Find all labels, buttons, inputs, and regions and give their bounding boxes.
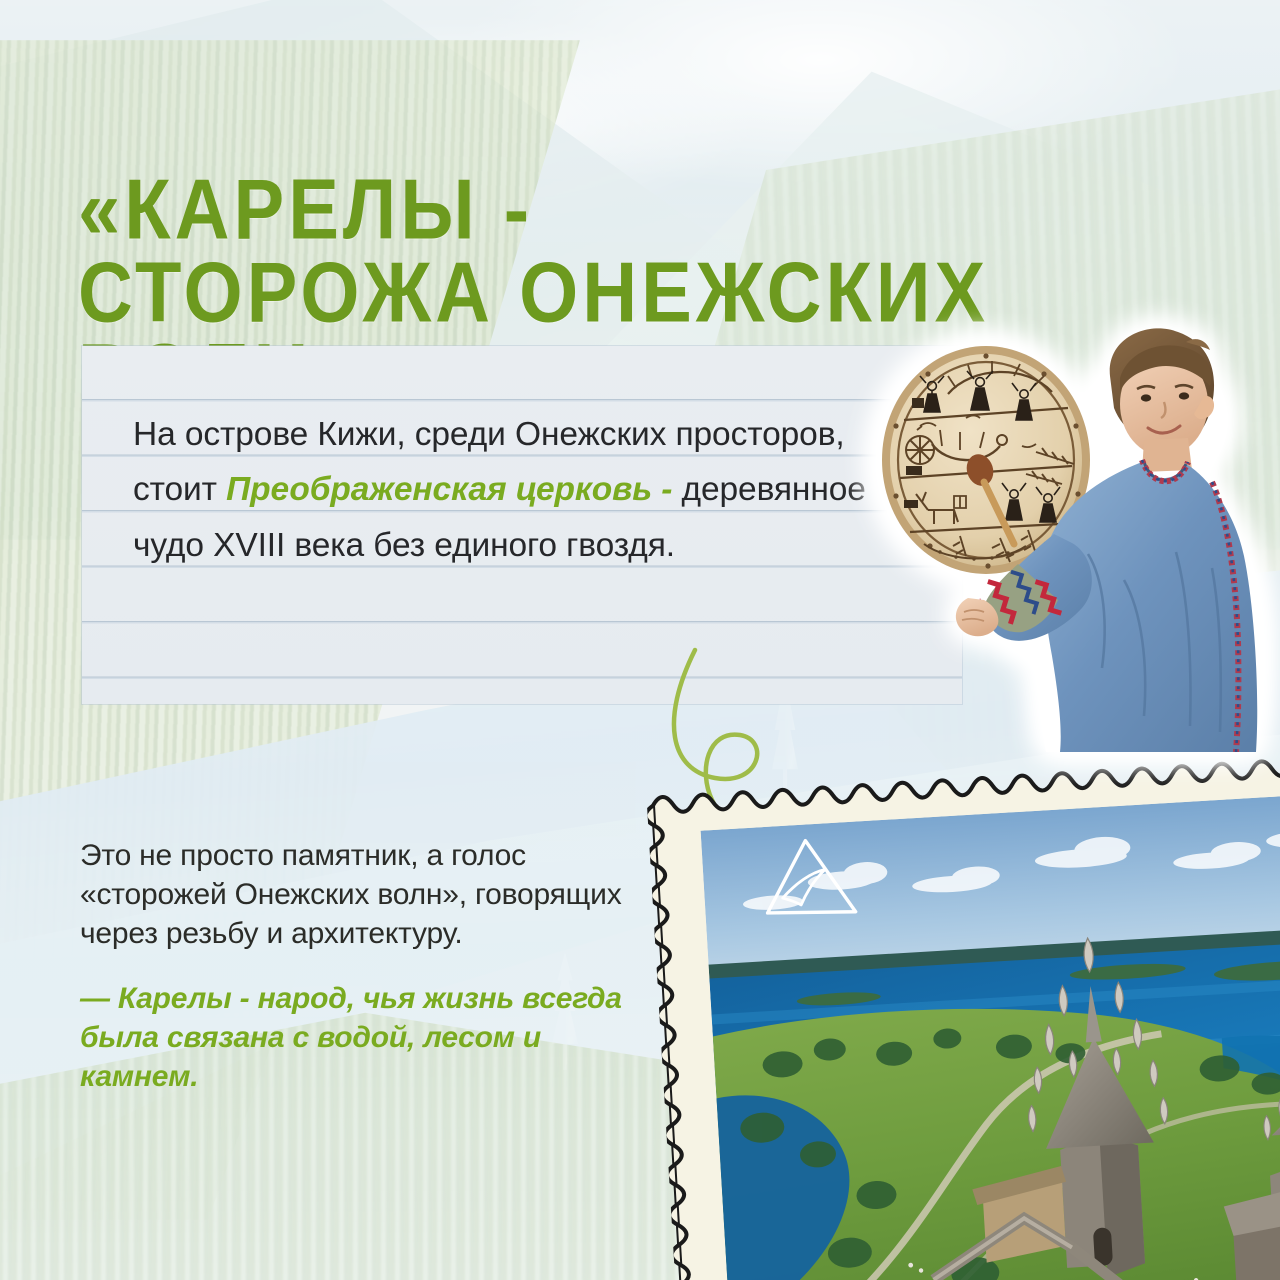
- lower-paragraph: Это не просто памятник, а голос «стороже…: [80, 839, 622, 950]
- karelian-musician-sticker: [856, 312, 1280, 752]
- postage-stamp-photo: [645, 730, 1280, 1280]
- note-card-text: На острове Кижи, среди Онежских просторо…: [133, 352, 893, 573]
- page-title-line1: «КАРЕЛЫ -: [78, 162, 533, 257]
- kizhi-aerial-photo: [701, 789, 1280, 1280]
- note-text-highlight: Преображенская церковь -: [226, 471, 672, 508]
- lower-text-block: Это не просто памятник, а голос «стороже…: [80, 836, 640, 1096]
- lower-quote: — Карелы - народ, чья жизнь всегда была …: [80, 979, 640, 1096]
- slide-canvas: «КАРЕЛЫ - СТОРОЖА ОНЕЖСКИХ ВОЛН» На остр…: [0, 0, 1280, 1280]
